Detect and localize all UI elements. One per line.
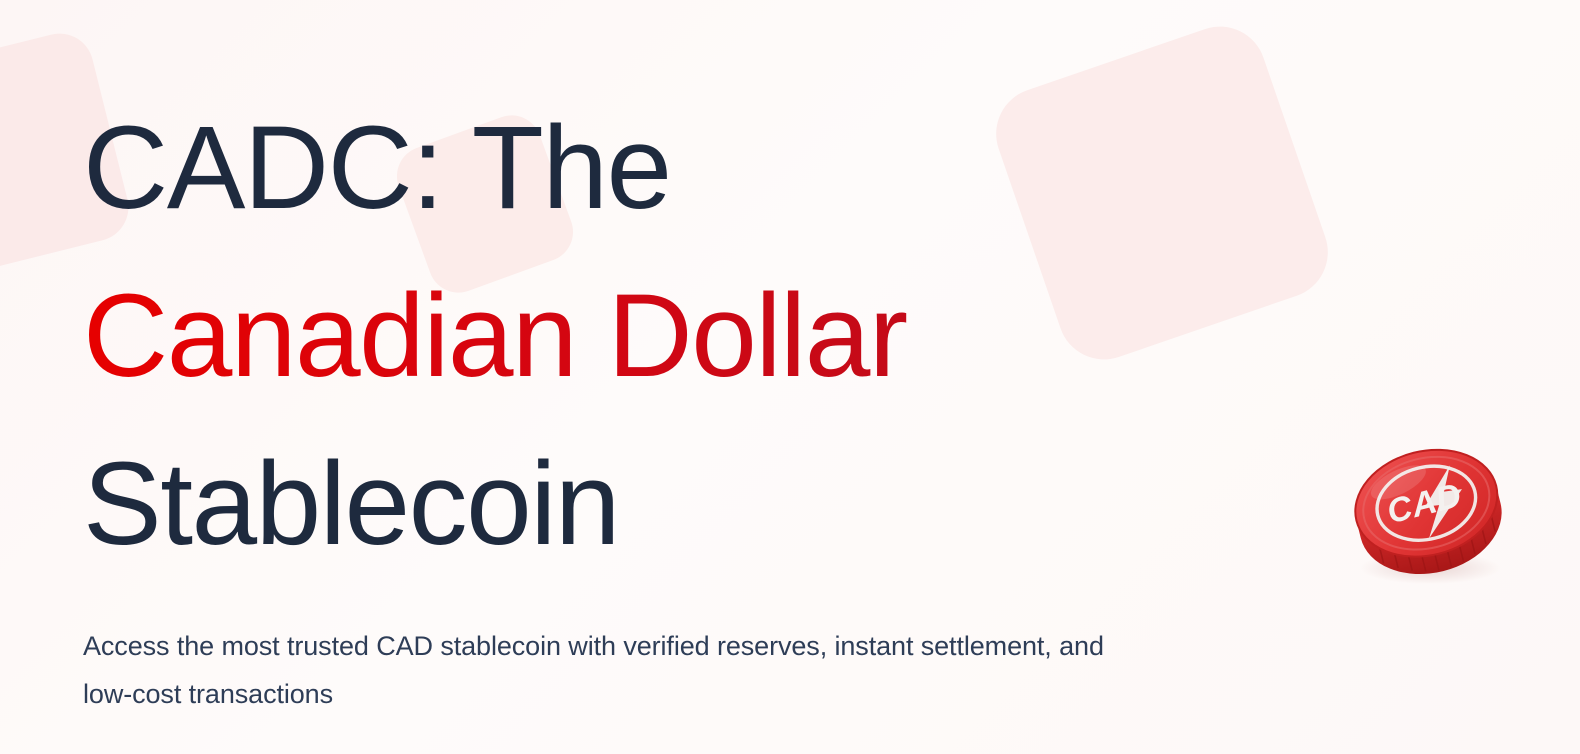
page-title: CADC: The Canadian Dollar Stablecoin <box>83 84 1283 588</box>
hero-content: CADC: The Canadian Dollar Stablecoin Acc… <box>83 84 1283 718</box>
headline-line-3: Stablecoin <box>83 420 1283 588</box>
headline-line-2-accent: Canadian Dollar <box>83 252 1283 420</box>
hero-section: CADC: The Canadian Dollar Stablecoin Acc… <box>0 0 1580 754</box>
cad-coin-illustration: CAD <box>1348 440 1508 590</box>
cad-coin-icon: CAD <box>1348 440 1508 590</box>
hero-subheadline: Access the most trusted CAD stablecoin w… <box>83 622 1158 718</box>
headline-line-1: CADC: The <box>83 84 1283 252</box>
